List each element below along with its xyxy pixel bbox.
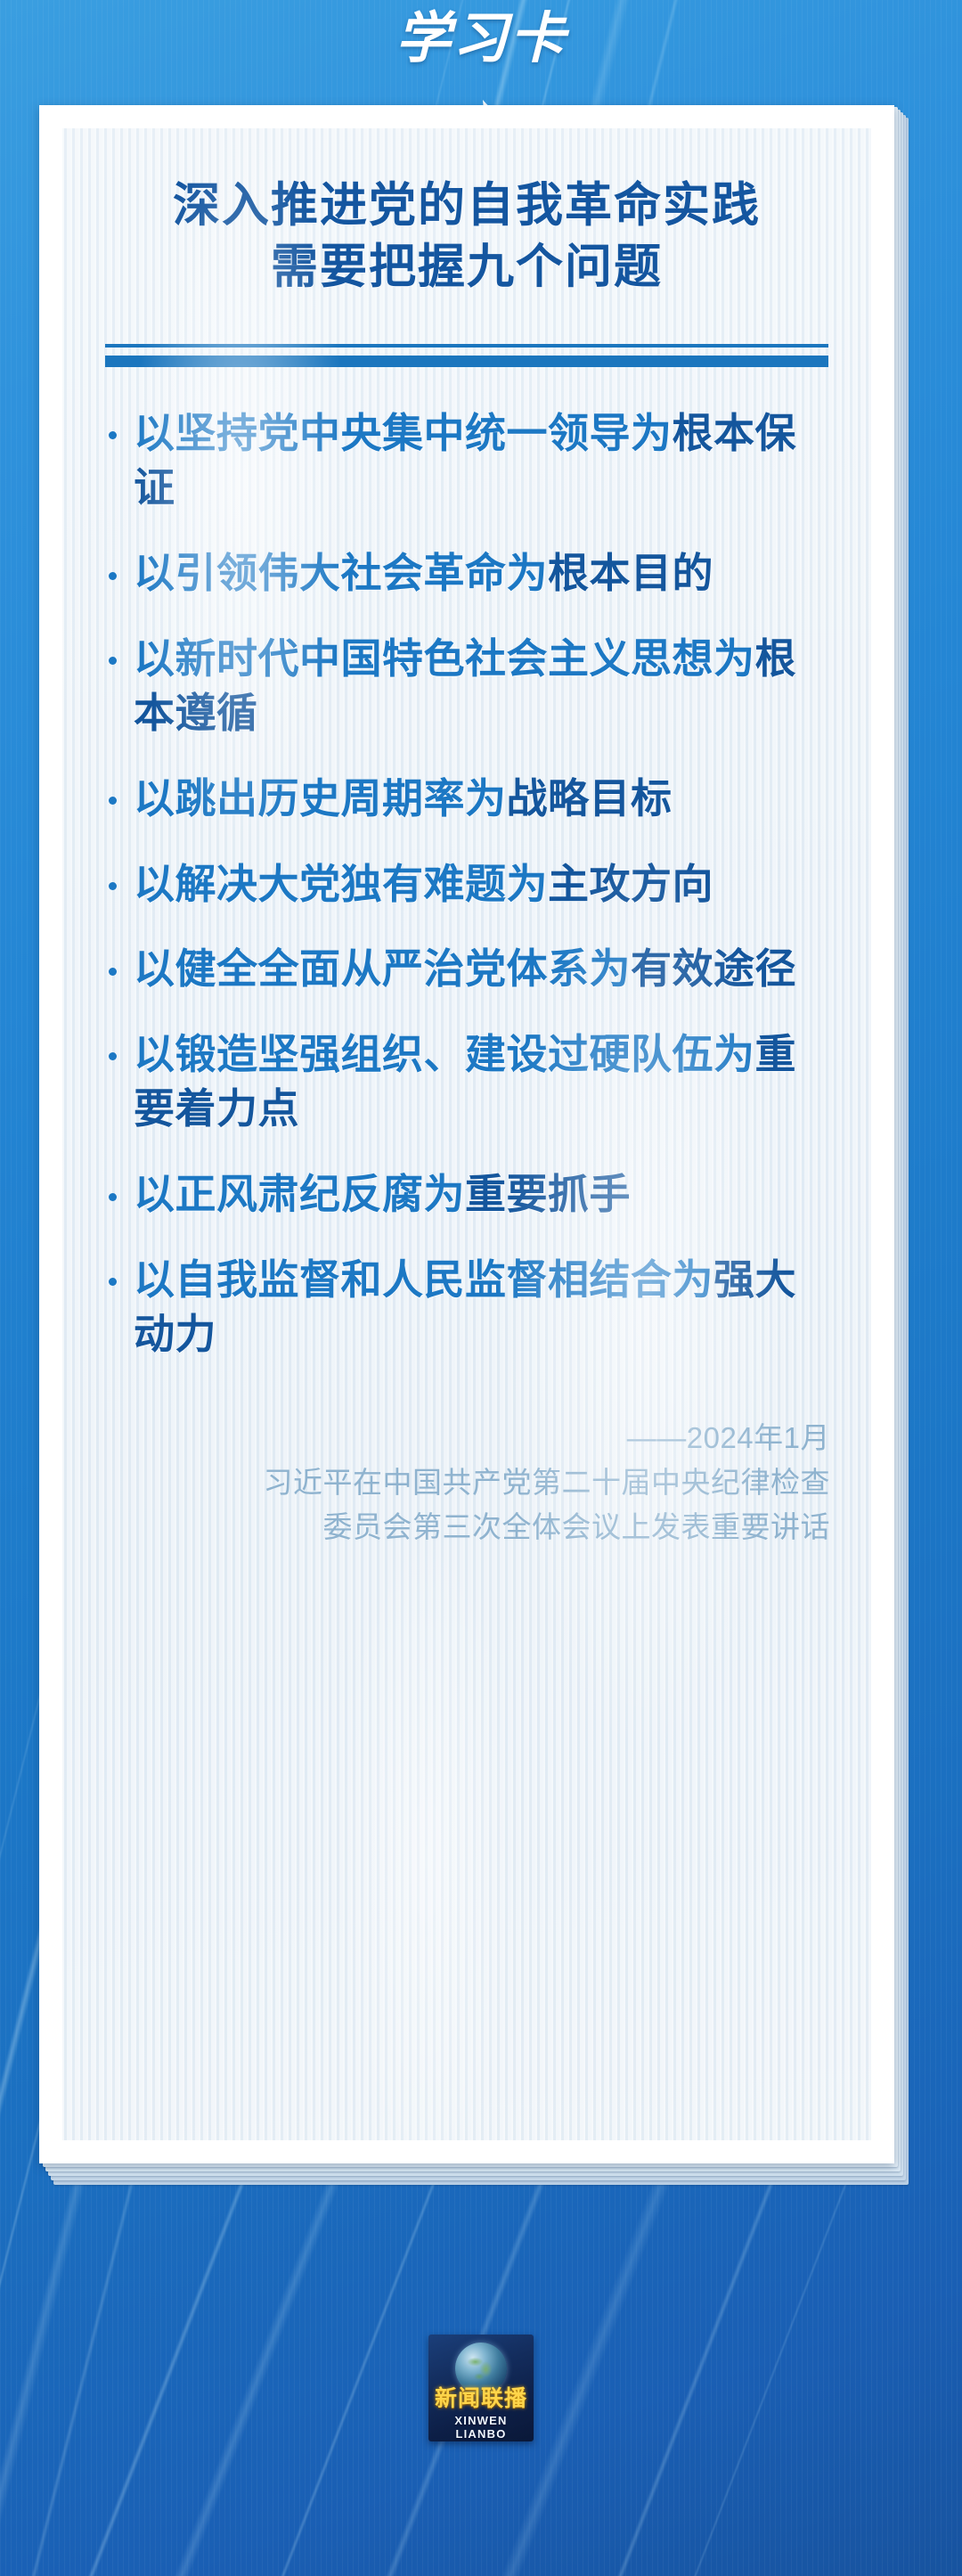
divider-thin-rule	[105, 344, 828, 348]
list-item: 以健全全面从严治党体系为有效途径	[103, 942, 830, 997]
attribution-line-2: 习近平在中国共产党第二十届中央纪律检查	[103, 1460, 830, 1505]
attribution: ——2024年1月 习近平在中国共产党第二十届中央纪律检查 委员会第三次全体会议…	[103, 1416, 830, 1550]
bullet-dot-icon	[109, 797, 117, 805]
bullet-dot-icon	[109, 968, 117, 976]
list-item-emphasis: 有效途径	[631, 945, 796, 992]
list-item: 以新时代中国特色社会主义思想为根本遵循	[103, 632, 830, 741]
list-item-text: 以引领伟大社会革命为	[134, 550, 548, 596]
list-item-text: 以锻造坚强组织、建设过硬队伍为	[134, 1031, 755, 1077]
bullet-dot-icon	[109, 1278, 117, 1286]
title-divider	[105, 344, 828, 367]
bullet-dot-icon	[109, 572, 117, 580]
points-list: 以坚持党中央集中统一领导为根本保证 以引领伟大社会革命为根本目的 以新时代中国特…	[103, 406, 830, 1362]
list-item-emphasis: 根本目的	[548, 550, 713, 596]
attribution-line-3: 委员会第三次全体会议上发表重要讲话	[103, 1505, 830, 1550]
list-item-text: 以健全全面从严治党体系为	[134, 945, 631, 992]
poster-root: 学习卡	[0, 0, 962, 2576]
list-item-text: 以跳出历史周期率为	[134, 775, 507, 822]
brand-logo-text: 学习卡	[347, 11, 615, 66]
xinwen-lianbo-logo: 新闻联播 XINWEN LIANBO	[428, 2335, 534, 2441]
footer: 新闻联播 XINWEN LIANBO	[0, 2335, 962, 2513]
list-item: 以坚持党中央集中统一领导为根本保证	[103, 406, 830, 516]
list-item: 以跳出历史周期率为战略目标	[103, 772, 830, 827]
xinwen-lianbo-logo-en: XINWEN LIANBO	[428, 2414, 534, 2441]
content-card: 深入推进党的自我革命实践 需要把握九个问题 以坚持党中央集中统一领导为根本保证 …	[39, 105, 894, 2163]
bullet-dot-icon	[109, 1052, 117, 1060]
card-stack: 深入推进党的自我革命实践 需要把握九个问题 以坚持党中央集中统一领导为根本保证 …	[39, 105, 923, 2187]
bullet-dot-icon	[109, 657, 117, 665]
list-item-emphasis: 重要抓手	[465, 1171, 631, 1217]
list-item-text: 以正风肃纪反腐为	[134, 1171, 465, 1217]
list-item-text: 以新时代中国特色社会主义思想为	[134, 635, 755, 682]
list-item-text: 以坚持党中央集中统一领导为	[134, 410, 673, 456]
list-item: 以自我监督和人民监督相结合为强大动力	[103, 1253, 830, 1362]
bullet-dot-icon	[109, 1193, 117, 1201]
xinwen-lianbo-logo-cn: 新闻联播	[428, 2388, 534, 2410]
list-item-emphasis: 主攻方向	[548, 861, 713, 907]
card-paper-surface: 深入推进党的自我革命实践 需要把握九个问题 以坚持党中央集中统一领导为根本保证 …	[62, 128, 871, 2140]
list-item: 以引领伟大社会革命为根本目的	[103, 546, 830, 601]
page-title-line-1: 深入推进党的自我革命实践	[103, 175, 830, 236]
attribution-date: ——2024年1月	[103, 1416, 830, 1460]
card-content: 深入推进党的自我革命实践 需要把握九个问题 以坚持党中央集中统一领导为根本保证 …	[62, 128, 871, 2140]
list-item-emphasis: 战略目标	[507, 775, 673, 822]
list-item-text: 以自我监督和人民监督相结合为	[134, 1256, 713, 1303]
bullet-dot-icon	[109, 431, 117, 439]
list-item: 以锻造坚强组织、建设过硬队伍为重要着力点	[103, 1027, 830, 1137]
list-item: 以正风肃纪反腐为重要抓手	[103, 1167, 830, 1223]
bullet-dot-icon	[109, 882, 117, 890]
divider-thick-bar	[105, 356, 828, 367]
list-item: 以解决大党独有难题为主攻方向	[103, 857, 830, 912]
list-item-text: 以解决大党独有难题为	[134, 861, 548, 907]
page-title: 深入推进党的自我革命实践 需要把握九个问题	[103, 175, 830, 298]
page-title-line-2: 需要把握九个问题	[103, 236, 830, 298]
